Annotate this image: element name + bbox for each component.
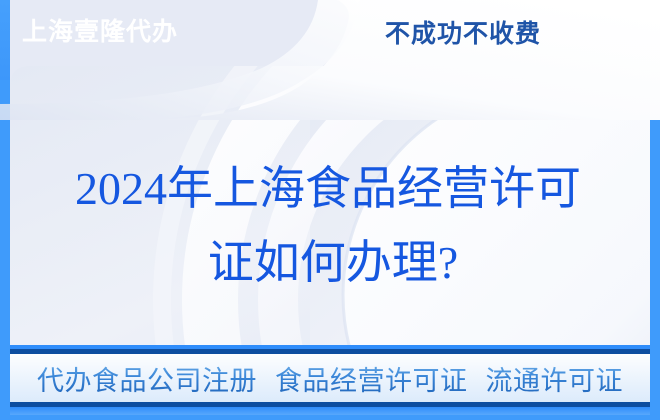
brand-title: 上海壹隆代办 (22, 20, 178, 45)
keyword-bar-bottom-strip (10, 407, 650, 415)
keyword-list: 代办食品公司注册 食品经营许可证 流通许可证 (37, 359, 623, 398)
page-title-line-1: 2024年上海食品经营许可 (0, 152, 660, 226)
page-title-line-2: 证如何办理? (0, 226, 660, 300)
keyword-bar-container: 代办食品公司注册 食品经营许可证 流通许可证 (10, 345, 650, 415)
keyword-item-0: 代办食品公司注册 (37, 366, 257, 396)
promo-poster: 上海壹隆代办 不成功不收费 2024年上海食品经营许可 证如何办理? 代办食品公… (0, 0, 660, 420)
keyword-item-1: 食品经营许可证 (275, 366, 468, 396)
page-title: 2024年上海食品经营许可 证如何办理? (0, 152, 660, 300)
keyword-bar: 代办食品公司注册 食品经营许可证 流通许可证 (10, 349, 650, 407)
keyword-item-2: 流通许可证 (486, 366, 624, 396)
slogan-text: 不成功不收费 (385, 22, 541, 47)
